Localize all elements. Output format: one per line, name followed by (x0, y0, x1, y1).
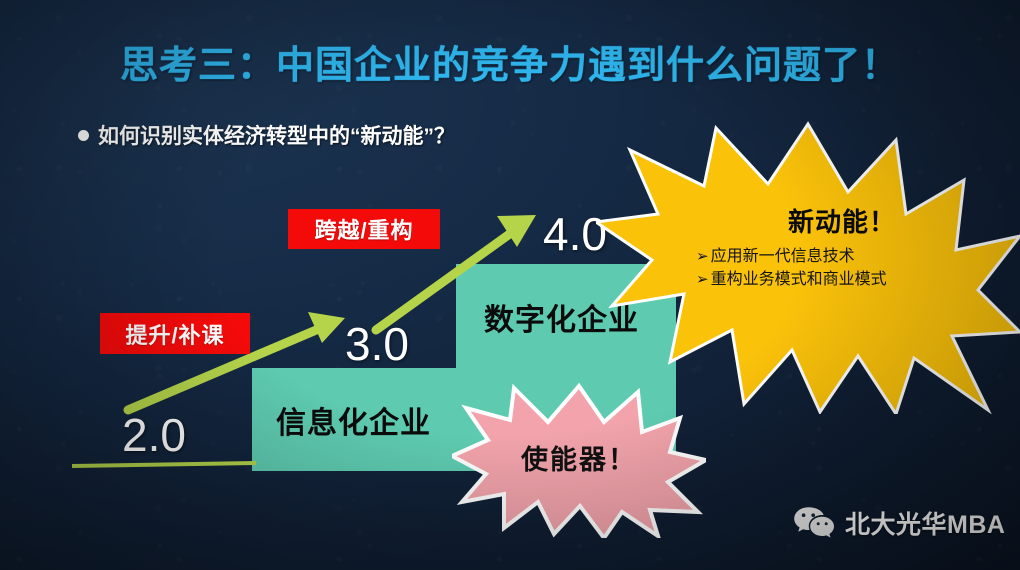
burst-yellow-shape (596, 118, 1020, 414)
page-title: 思考三：中国企业的竞争力遇到什么问题了！ (0, 34, 1020, 89)
version-label-3-0: 3.0 (345, 317, 409, 371)
burst-enabler: 使能器！ (452, 382, 706, 538)
wechat-icon (793, 506, 835, 540)
subtitle-text: 如何识别实体经济转型中的“新动能”？ (98, 120, 455, 150)
slide-canvas: 思考三：中国企业的竞争力遇到什么问题了！ 如何识别实体经济转型中的“新动能”？ … (0, 0, 1020, 570)
burst-new-momentum: 新动能！ ➢应用新一代信息技术 ➢重构业务模式和商业模式 (596, 118, 1020, 414)
version-label-2-0: 2.0 (122, 408, 186, 462)
brand-name: 北大光华MBA (845, 505, 1005, 541)
tag-leapfrog: 跨越/重构 (288, 209, 440, 249)
bullet-dot-icon (78, 130, 89, 141)
tag-upgrade: 提升/补课 (100, 313, 250, 354)
footer-brand: 北大光华MBA (793, 505, 1005, 541)
baseline-segment (72, 463, 256, 466)
step-label-informatized: 信息化企业 (276, 398, 431, 442)
burst-pink-shape (452, 382, 706, 538)
subtitle-line: 如何识别实体经济转型中的“新动能”？ (78, 120, 455, 150)
